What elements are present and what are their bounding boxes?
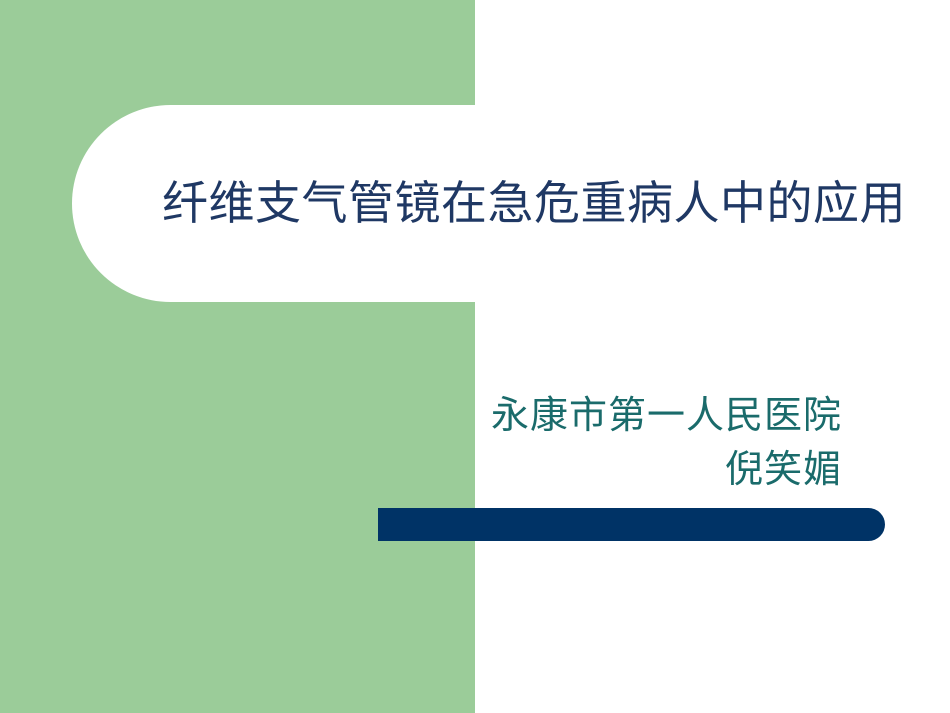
title-slide: 纤维支气管镜在急危重病人中的应用 永康市第一人民医院 倪笑媚 [0, 0, 950, 713]
slide-title: 纤维支气管镜在急危重病人中的应用 [118, 105, 950, 302]
subtitle-organization: 永康市第一人民医院 [420, 388, 842, 442]
title-plate: 纤维支气管镜在急危重病人中的应用 [72, 105, 950, 302]
subtitle-author: 倪笑媚 [420, 442, 842, 496]
navy-accent-bar [378, 508, 885, 541]
subtitle-block: 永康市第一人民医院 倪笑媚 [420, 388, 842, 496]
